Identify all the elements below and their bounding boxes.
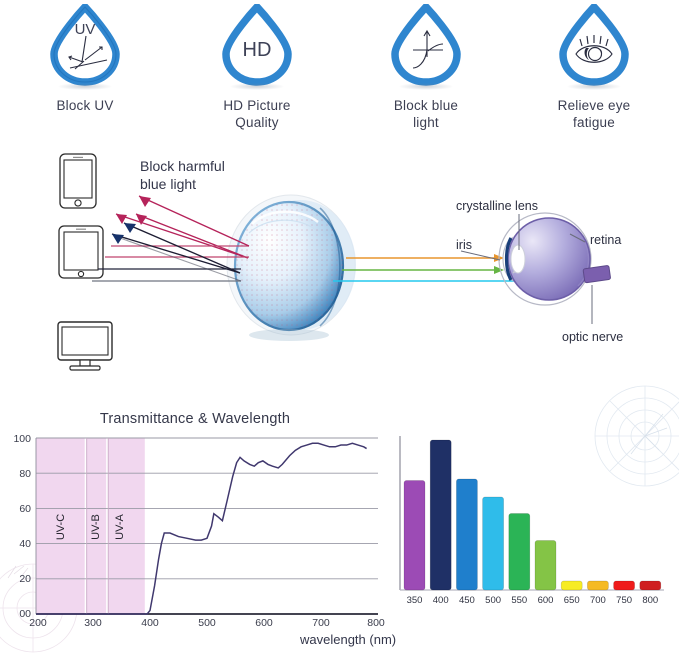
bar-xtick-750: 750	[616, 595, 632, 606]
uv-glyph-text: UV	[75, 21, 96, 38]
bar-350	[404, 481, 425, 591]
ytick-100: 100	[13, 433, 31, 445]
feature-label-line: fatigue	[509, 114, 679, 131]
feature-row: UV Block UV	[0, 0, 679, 138]
label-retina: retina	[590, 233, 621, 247]
bar-xtick-600: 600	[538, 595, 554, 606]
xtick-400: 400	[141, 617, 159, 628]
feature-block-blue-light: Block blue light	[341, 4, 511, 132]
feature-label-line: Block blue	[341, 97, 511, 114]
block-blue-light-icon	[387, 4, 465, 86]
bar-750	[614, 581, 635, 590]
bar-xtick-450: 450	[459, 595, 475, 606]
xtick-500: 500	[198, 617, 216, 628]
bar-800	[640, 581, 661, 590]
band-label-uv-b: UV-B	[90, 514, 102, 540]
eye-drop-svg	[555, 4, 633, 86]
label-iris: iris	[456, 238, 472, 252]
ytick-80: 80	[19, 468, 31, 480]
icon-shadow	[58, 83, 112, 90]
icon-shadow	[567, 83, 621, 90]
bar-450	[456, 479, 477, 590]
bar-xtick-350: 350	[407, 595, 423, 606]
feature-label-line: Block UV	[0, 97, 170, 114]
band-label-uv-c: UV-C	[55, 514, 67, 540]
xtick-300: 300	[84, 617, 102, 628]
feature-label-line: Quality	[172, 114, 342, 131]
bar-550	[509, 514, 530, 591]
blue-light-spectrum-chart: 350400450500550600650700750800	[392, 418, 679, 628]
feature-label-line: HD Picture	[172, 97, 342, 114]
bar-xtick-500: 500	[485, 595, 501, 606]
ytick-40: 40	[19, 538, 31, 550]
bar-xtick-group: 350400450500550600650700750800	[407, 595, 659, 606]
transmittance-chart-title: Transmittance & Wavelength	[0, 411, 390, 427]
feature-label: Block blue light	[341, 97, 511, 132]
bar-xtick-650: 650	[564, 595, 580, 606]
xtick-600: 600	[255, 617, 273, 628]
feature-label: Block UV	[0, 97, 170, 114]
bar-xtick-800: 800	[642, 595, 658, 606]
wavelength-axis-title: wavelength (nm)	[300, 632, 396, 647]
hd-drop-svg: HD	[218, 4, 296, 86]
feature-label-line: light	[341, 114, 511, 131]
xtick-800: 800	[367, 617, 385, 628]
ray-diagram-svg	[0, 138, 679, 398]
uv-block-icon: UV	[46, 4, 124, 86]
band-label-uv-a: UV-A	[114, 514, 126, 540]
feature-block-uv: UV Block UV	[0, 4, 170, 114]
icon-shadow	[230, 83, 284, 90]
ytick-60: 60	[19, 503, 31, 515]
hd-glyph-text: HD	[243, 39, 272, 61]
xtick-700: 700	[312, 617, 330, 628]
bar-600	[535, 541, 556, 591]
lens-eye-diagram: Block harmful blue light	[0, 138, 679, 398]
uv-drop-svg: UV	[46, 4, 124, 86]
bar-xtick-400: 400	[433, 595, 449, 606]
bar-400	[430, 440, 451, 590]
label-optic-nerve: optic nerve	[562, 330, 623, 344]
icon-shadow	[399, 83, 453, 90]
bar-700	[587, 581, 608, 590]
bar-650	[561, 581, 582, 590]
bar-500	[483, 497, 504, 590]
label-crystalline-lens: crystalline lens	[456, 199, 538, 213]
hd-picture-icon: HD	[218, 4, 296, 86]
charts-area: Transmittance & Wavelength 100 80	[0, 398, 679, 654]
feature-hd-picture: HD HD Picture Quality	[172, 4, 342, 132]
bar-group	[404, 440, 661, 590]
infographic-page: UV Block UV	[0, 0, 679, 654]
feature-label-line: Relieve eye	[509, 97, 679, 114]
feature-relieve-eye-fatigue: Relieve eye fatigue	[509, 4, 679, 132]
transmittance-curve	[36, 443, 367, 614]
bar-xtick-700: 700	[590, 595, 606, 606]
relieve-eye-fatigue-icon	[555, 4, 633, 86]
feature-label: HD Picture Quality	[172, 97, 342, 132]
transmittance-chart: 100 80 60 40 20 00 200 300 400 500 600 7…	[0, 432, 392, 628]
bar-xtick-550: 550	[511, 595, 527, 606]
ytick-20: 20	[19, 573, 31, 585]
xtick-200: 200	[29, 617, 47, 628]
blue-light-drop-svg	[387, 4, 465, 86]
feature-label: Relieve eye fatigue	[509, 97, 679, 132]
